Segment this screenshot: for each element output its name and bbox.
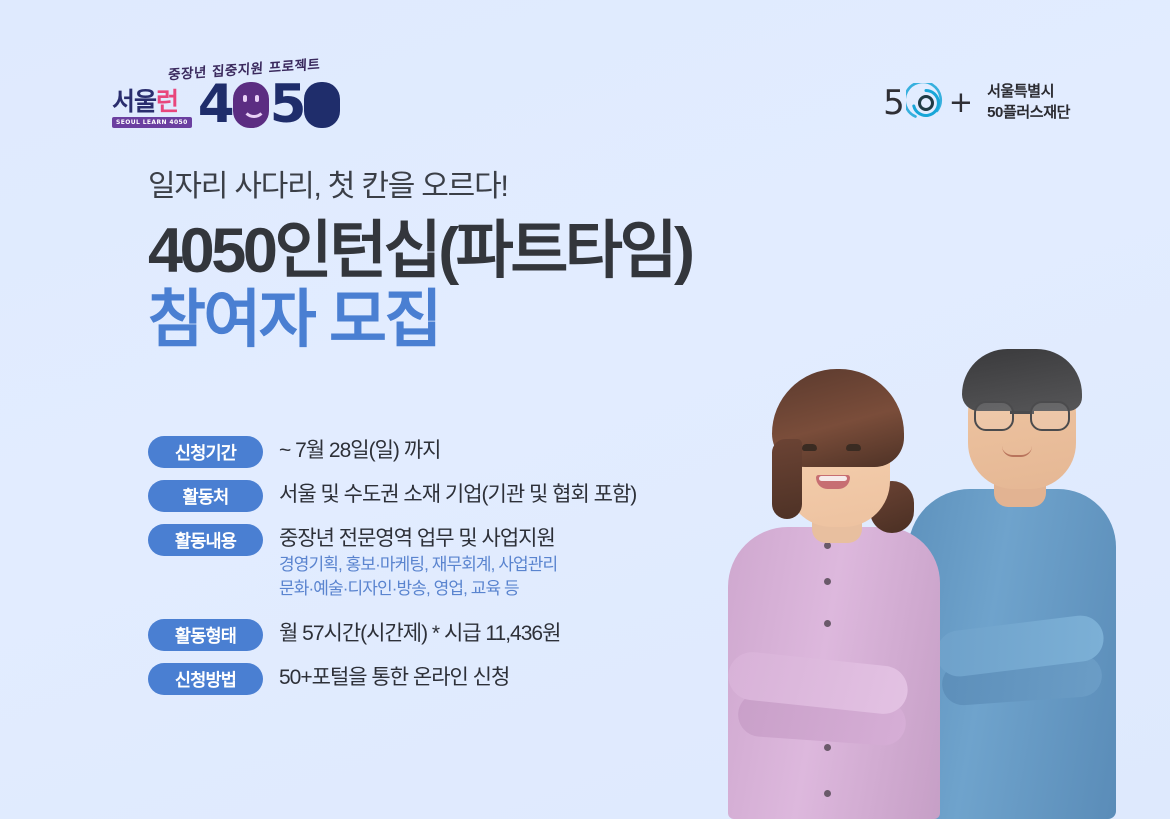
foundation-plus-sign: + <box>949 88 973 117</box>
foundation-name: 서울특별시 50플러스재단 <box>987 82 1070 123</box>
brand-seoul-learn-wordmark: 서울런 SEOUL LEARN 4050 <box>112 89 196 128</box>
brand-logo-seoul-learn-4050: 중장년 집중지원 프로젝트 서울런 SEOUL LEARN 4050 4 5 <box>112 58 312 138</box>
info-row-application-period: 신청기간 ~ 7월 28일(일) 까지 <box>148 436 768 468</box>
info-body-activity-type: 월 57시간(시간제) * 시급 11,436원 <box>279 619 560 648</box>
man-sweater <box>908 489 1116 819</box>
brand-smiley-zero-icon <box>233 82 269 128</box>
info-row-activity-type: 활동형태 월 57시간(시간제) * 시급 11,436원 <box>148 619 768 651</box>
woman-hair-side <box>772 439 802 519</box>
info-main-workplace: 서울 및 수도권 소재 기업(기관 및 협회 포함) <box>279 481 636 509</box>
brand-logo-row: 서울런 SEOUL LEARN 4050 4 5 <box>112 82 341 128</box>
glasses-lens-right <box>1030 401 1070 431</box>
poster-root: 중장년 집중지원 프로젝트 서울런 SEOUL LEARN 4050 4 5 5 <box>0 0 1170 819</box>
headline-block: 일자리 사다리, 첫 칸을 오르다! 4050인턴십(파트타임) 참여자 모집 <box>148 170 968 356</box>
man-neck <box>994 463 1046 507</box>
woman-head <box>786 403 890 527</box>
woman-button <box>824 542 831 549</box>
man-arm-upper <box>934 613 1106 679</box>
info-row-workplace: 활동처 서울 및 수도권 소재 기업(기관 및 협회 포함) <box>148 480 768 512</box>
smiley-eye-right <box>255 95 259 102</box>
brand-digit-5: 5 <box>270 82 304 128</box>
brand-seoul-han: 서울 <box>112 87 156 116</box>
badge-activity-content: 활동내용 <box>148 524 263 556</box>
badge-application-period: 신청기간 <box>148 436 263 468</box>
info-main-activity-type: 월 57시간(시간제) * 시급 11,436원 <box>279 620 560 648</box>
info-body-activity-content: 중장년 전문영역 업무 및 사업지원 경영기획, 홍보·마케팅, 재무회계, 사… <box>279 524 557 601</box>
brand-learn-han: 런 <box>156 87 178 116</box>
man-trousers <box>942 727 1090 819</box>
woman-button <box>824 578 831 585</box>
info-body-application-period: ~ 7월 28일(일) 까지 <box>279 436 440 465</box>
woman-button <box>824 744 831 751</box>
man-head <box>968 361 1076 489</box>
glasses-icon <box>974 401 1070 427</box>
brand-4050-numerals: 4 5 <box>198 82 342 128</box>
info-body-workplace: 서울 및 수도권 소재 기업(기관 및 협회 포함) <box>279 480 636 509</box>
woman-eye-left <box>802 444 817 451</box>
foundation-name-line2: 50플러스재단 <box>987 103 1070 124</box>
man-mouth <box>1002 446 1032 457</box>
info-row-activity-content: 활동내용 중장년 전문영역 업무 및 사업지원 경영기획, 홍보·마케팅, 재무… <box>148 524 768 601</box>
woman-neck <box>812 503 862 543</box>
woman-button <box>824 790 831 797</box>
foundation-name-line1: 서울특별시 <box>987 82 1070 103</box>
badge-activity-type: 활동형태 <box>148 619 263 651</box>
glasses-lens-left <box>974 401 1014 431</box>
badge-workplace: 활동처 <box>148 480 263 512</box>
info-sub-activity-content-2: 문화·예술·디자인·방송, 영업, 교육 등 <box>279 577 557 601</box>
info-sub-activity-content-1: 경영기획, 홍보·마케팅, 재무회계, 사업관리 <box>279 553 557 577</box>
headline-title-line2: 참여자 모집 <box>148 285 968 356</box>
info-row-how-to-apply: 신청방법 50+포털을 통한 온라인 신청 <box>148 663 768 695</box>
woman-hair <box>772 369 904 467</box>
glasses-bridge <box>1010 411 1034 414</box>
brand-zero-plain <box>304 82 340 128</box>
headline-kicker: 일자리 사다리, 첫 칸을 오르다! <box>148 170 968 203</box>
info-main-activity-content: 중장년 전문영역 업무 및 사업지원 <box>279 525 557 553</box>
smiley-mouth <box>242 105 266 118</box>
woman-smile <box>816 475 850 489</box>
info-main-application-period: ~ 7월 28일(일) 까지 <box>279 437 440 465</box>
foundation-mark: 5 + <box>883 83 973 123</box>
woman-eye-right <box>846 444 861 451</box>
headline-title-line1: 4050인턴십(파트타임) <box>148 217 968 285</box>
smiley-eye-left <box>243 95 247 102</box>
woman-cardigan-buttons <box>824 547 831 797</box>
info-list: 신청기간 ~ 7월 28일(일) 까지 활동처 서울 및 수도권 소재 기업(기… <box>148 436 768 707</box>
info-body-how-to-apply: 50+포털을 통한 온라인 신청 <box>279 663 509 692</box>
foundation-logo: 5 + 서울특별시 50플러스재단 <box>883 82 1070 123</box>
woman-hair-bun <box>870 481 914 533</box>
badge-how-to-apply: 신청방법 <box>148 663 263 695</box>
woman-button <box>824 620 831 627</box>
people-photo <box>700 299 1170 819</box>
person-man <box>890 319 1140 819</box>
foundation-digit-5: 5 <box>883 86 905 120</box>
brand-seoul-text: 서울런 <box>112 89 192 114</box>
brand-digit-4: 4 <box>198 82 232 128</box>
brand-seoul-sub-latin: SEOUL LEARN 4050 <box>112 117 192 128</box>
target-rings-icon <box>906 83 946 123</box>
man-hair <box>962 349 1082 411</box>
man-arm-lower <box>941 653 1104 706</box>
info-main-how-to-apply: 50+포털을 통한 온라인 신청 <box>279 664 509 692</box>
